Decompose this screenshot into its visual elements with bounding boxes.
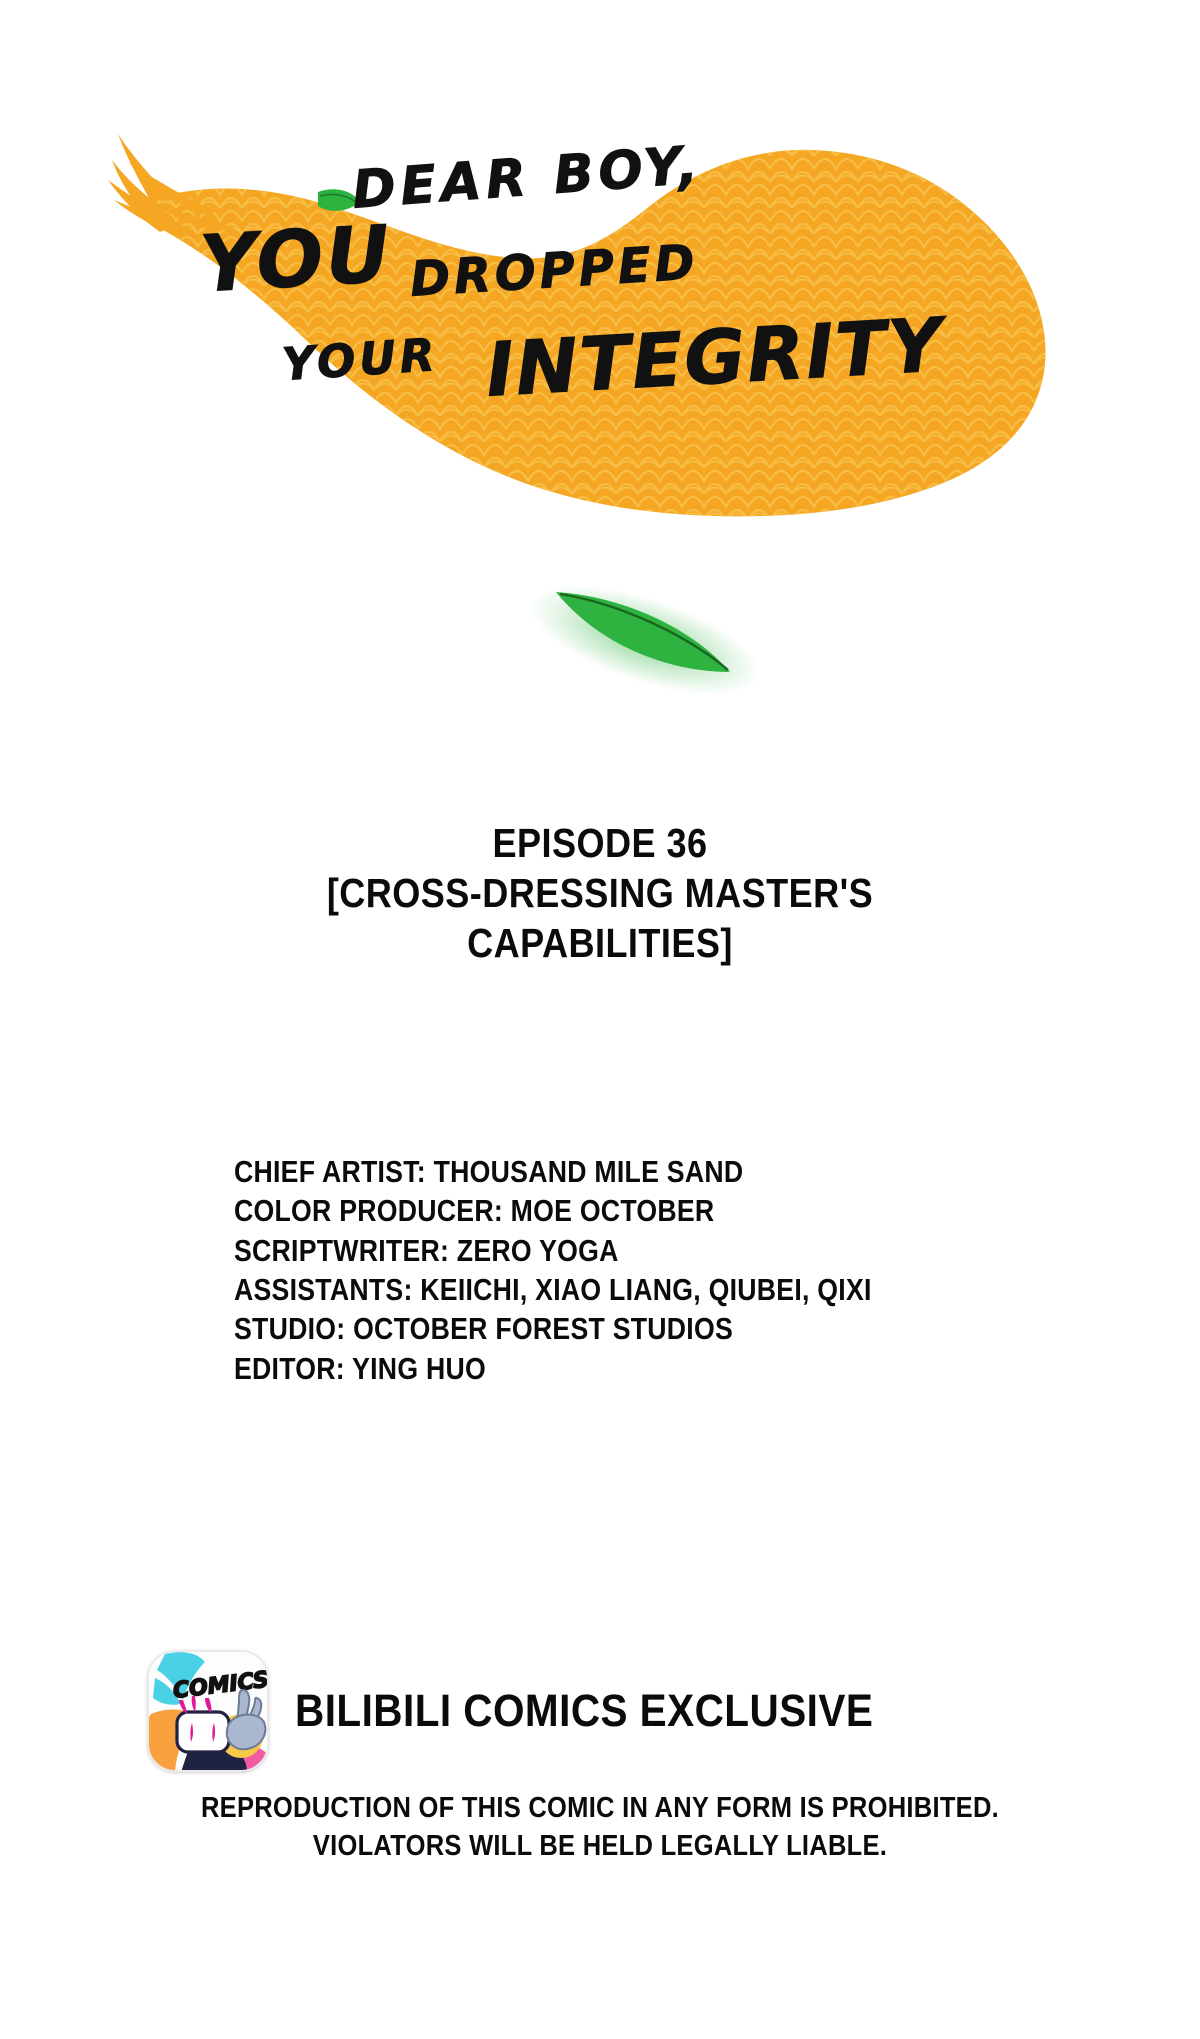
- brand-row: COMICS: [0, 1650, 1200, 1772]
- episode-number: EPISODE 36: [72, 818, 1128, 868]
- disclaimer-line-2: VIOLATORS WILL BE HELD LEGALLY LIABLE.: [72, 1828, 1128, 1866]
- hero-illustration: [0, 0, 1200, 760]
- small-leaf-icon: [318, 189, 360, 211]
- logo-graphic: COMICS: [147, 1650, 269, 1772]
- disclaimer-line-1: REPRODUCTION OF THIS COMIC IN ANY FORM I…: [72, 1790, 1128, 1828]
- credit-editor: EDITOR: YING HUO: [234, 1349, 1008, 1388]
- bilibili-comics-logo-icon: COMICS: [147, 1650, 269, 1772]
- comic-title-page: DEAR BOY, YOU DROPPED YOUR INTEGRITY EPI…: [0, 0, 1200, 2039]
- credit-color-producer: COLOR PRODUCER: MOE OCTOBER: [234, 1191, 1008, 1230]
- episode-subtitle-1: [CROSS-DRESSING MASTER'S: [72, 868, 1128, 918]
- mango-blob-shape: [0, 120, 1200, 560]
- credit-assistants: ASSISTANTS: KEIICHI, XIAO LIANG, QIUBEI,…: [234, 1270, 1008, 1309]
- hero-artwork: DEAR BOY, YOU DROPPED YOUR INTEGRITY: [0, 0, 1200, 760]
- leaf-icon: [518, 563, 772, 717]
- bilibili-exclusive-label: BILIBILI COMICS EXCLUSIVE: [295, 1685, 873, 1737]
- credit-chief-artist: CHIEF ARTIST: THOUSAND MILE SAND: [234, 1152, 1008, 1191]
- copyright-disclaimer: REPRODUCTION OF THIS COMIC IN ANY FORM I…: [72, 1790, 1128, 1865]
- credits-block: CHIEF ARTIST: THOUSAND MILE SAND COLOR P…: [234, 1152, 1008, 1388]
- credit-scriptwriter: SCRIPTWRITER: ZERO YOGA: [234, 1231, 1008, 1270]
- episode-subtitle-2: CAPABILITIES]: [72, 918, 1128, 968]
- credit-studio: STUDIO: OCTOBER FOREST STUDIOS: [234, 1309, 1008, 1348]
- episode-title-block: EPISODE 36 [CROSS-DRESSING MASTER'S CAPA…: [72, 818, 1128, 968]
